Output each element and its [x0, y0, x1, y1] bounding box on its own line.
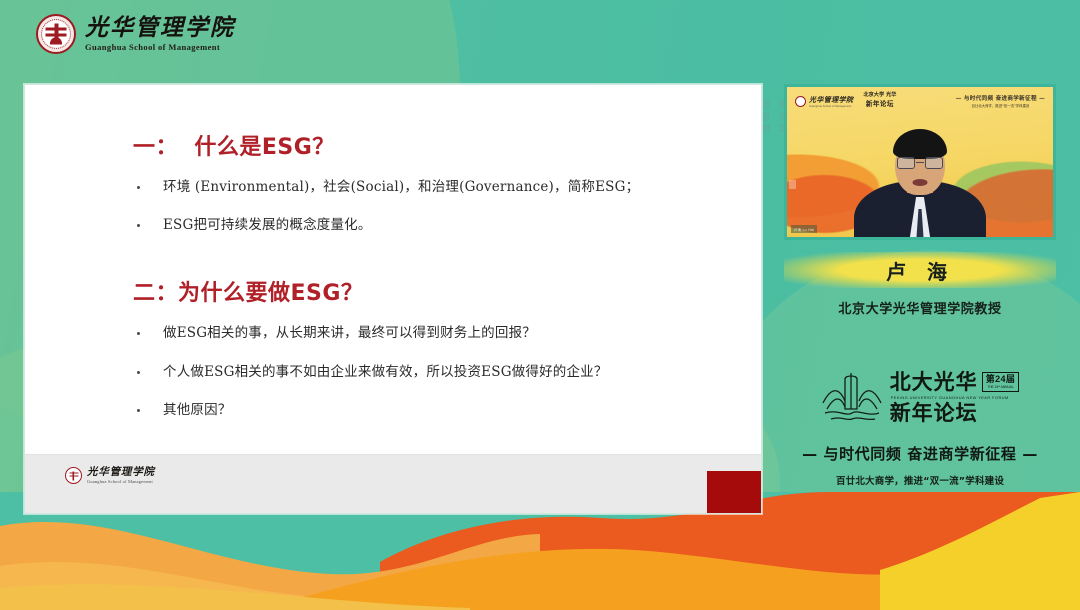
forum-edition-badge: 第24届 THE 24ᵗʰ ANNUAL — [982, 372, 1020, 392]
glasses-icon — [897, 157, 943, 170]
forum-logo-lockup: 北大光华 第24届 THE 24ᵗʰ ANNUAL PEKING UNIVERS… — [784, 365, 1056, 431]
slide-footer-logo-text: 光华管理学院 Guanghua School of Management — [87, 467, 155, 484]
video-banner: 光华管理学院 Guanghua School of Management 北京大… — [787, 87, 1053, 115]
slide-footer-logo-en: Guanghua School of Management — [87, 480, 155, 484]
header-logo-en: Guanghua School of Management — [85, 43, 235, 52]
forum-slogan: — 与时代同频 奋进商学新征程 — — [784, 443, 1056, 464]
video-name-tag: 卢海 Lu Hai — [791, 225, 817, 233]
broadcast-screen: 光华管理学院 Guanghua School of Management 因思想… — [0, 0, 1080, 610]
forum-subslogan: 百廿北大商学，推进“双一流”学科建设 — [784, 473, 1056, 487]
video-banner-forum-line2: 新年论坛 — [863, 100, 896, 110]
list-item: ESG把可持续发展的概念度量化。 — [133, 217, 725, 233]
forum-edition-main: 第24届 — [986, 375, 1016, 384]
header-logo: 光华管理学院 Guanghua School of Management — [36, 14, 235, 54]
video-banner-slogan-line1: — 与时代同频 奋进商学新征程 — — [956, 94, 1045, 102]
speaker-name: 卢 海 — [886, 256, 954, 285]
forum-name-line1: 北大光华 — [890, 372, 978, 393]
forum-logo-text: 北大光华 第24届 THE 24ᵗʰ ANNUAL PEKING UNIVERS… — [890, 372, 1020, 425]
forum-edition-sub: THE 24ᵗʰ ANNUAL — [986, 386, 1016, 389]
video-banner-logo-en: Guanghua School of Management — [809, 105, 853, 108]
right-panel: 光华管理学院 Guanghua School of Management 北京大… — [784, 84, 1056, 487]
speaker-nameplate: 卢 海 — [784, 252, 1056, 288]
section-1-bullet-list: 环境 (Environmental)，社会(Social)，和治理(Govern… — [133, 179, 725, 233]
video-banner-slogan-line2: 百廿北大商学，推进“双一流”学科建设 — [956, 103, 1045, 108]
speaker-portrait — [854, 129, 986, 237]
section-title-2: 二：为什么要做ESG？ — [133, 275, 725, 307]
list-item: 其他原因？ — [133, 402, 725, 418]
list-item: 个人做ESG相关的事不如由企业来做有效，所以投资ESG做得好的企业？ — [133, 364, 725, 380]
header-logo-text: 光华管理学院 Guanghua School of Management — [85, 16, 235, 52]
video-banner-logo-cn: 光华管理学院 — [809, 95, 853, 105]
video-banner-forum-line1: 北京大学 光华 — [863, 92, 896, 100]
speaker-hair — [893, 129, 947, 159]
peking-university-seal-icon — [795, 96, 806, 107]
presentation-slide: 一： 什么是ESG？ 环境 (Environmental)，社会(Social)… — [24, 84, 762, 514]
speaker-affiliation: 北京大学光华管理学院教授 — [784, 298, 1056, 317]
slide-footer-logo-cn: 光华管理学院 — [87, 467, 155, 478]
video-banner-slogan: — 与时代同频 奋进商学新征程 — 百廿北大商学，推进“双一流”学科建设 — [956, 94, 1045, 108]
slide-footer: 光华管理学院 Guanghua School of Management — [25, 454, 761, 513]
section-title-1: 一： 什么是ESG？ — [133, 129, 725, 161]
section-2-bullet-list: 做ESG相关的事，从长期来讲，最终可以得到财务上的回报？ 个人做ESG相关的事不… — [133, 325, 725, 418]
slide-footer-logo: 光华管理学院 Guanghua School of Management — [65, 467, 155, 484]
video-banner-logo: 光华管理学院 Guanghua School of Management — [795, 95, 853, 108]
list-item: 做ESG相关的事，从长期来讲，最终可以得到财务上的回报？ — [133, 325, 725, 341]
forum-mountain-mark-icon — [821, 369, 883, 427]
list-item: 环境 (Environmental)，社会(Social)，和治理(Govern… — [133, 179, 725, 195]
header-logo-cn: 光华管理学院 — [85, 16, 235, 39]
speaker-mouth — [913, 179, 928, 186]
peking-university-seal-icon — [65, 467, 82, 484]
peking-university-seal-icon — [36, 14, 76, 54]
slide-accent-block — [707, 471, 761, 513]
forum-name-line2: 新年论坛 — [890, 403, 1020, 424]
slide-content: 一： 什么是ESG？ 环境 (Environmental)，社会(Social)… — [25, 85, 761, 455]
speaker-video-tile[interactable]: 光华管理学院 Guanghua School of Management 北京大… — [784, 84, 1056, 240]
video-banner-forum: 北京大学 光华 新年论坛 — [863, 92, 896, 110]
forum-name-english: PEKING UNIVERSITY GUANGHUA NEW YEAR FORU… — [891, 396, 1020, 400]
video-side-chip — [789, 180, 796, 189]
